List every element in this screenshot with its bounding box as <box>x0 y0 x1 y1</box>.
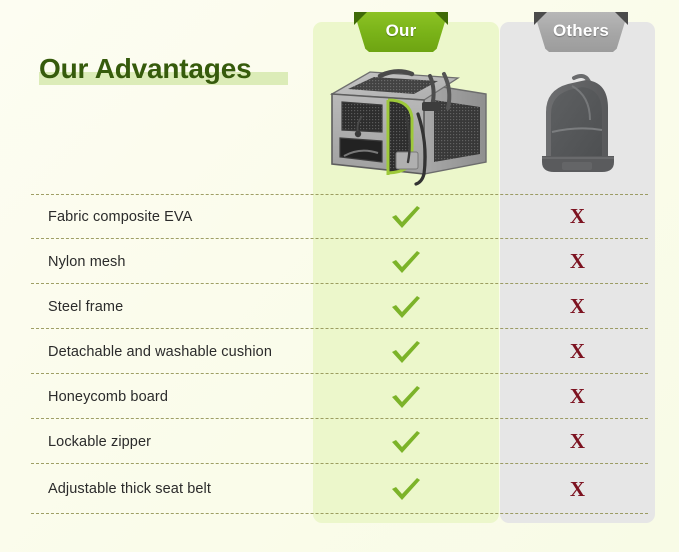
others-cell: X <box>500 329 655 374</box>
feature-label: Steel frame <box>48 299 123 315</box>
our-cell <box>313 464 499 514</box>
check-icon <box>389 384 423 410</box>
x-icon: X <box>570 431 585 452</box>
table-row: Lockable zipper X <box>0 419 679 464</box>
table-row: Detachable and washable cushion X <box>0 329 679 374</box>
feature-label: Detachable and washable cushion <box>48 344 272 360</box>
feature-label: Nylon mesh <box>48 254 126 270</box>
check-icon <box>389 294 423 320</box>
our-cell <box>313 329 499 374</box>
check-icon <box>389 249 423 275</box>
our-cell <box>313 284 499 329</box>
others-cell: X <box>500 194 655 239</box>
feature-label: Fabric composite EVA <box>48 209 192 225</box>
table-row: Steel frame X <box>0 284 679 329</box>
x-icon: X <box>570 251 585 272</box>
check-icon <box>389 339 423 365</box>
feature-label: Honeycomb board <box>48 389 168 405</box>
our-cell <box>313 194 499 239</box>
comparison-chart: Our Advantages Our Others <box>0 0 679 552</box>
x-icon: X <box>570 296 585 317</box>
x-icon: X <box>570 386 585 407</box>
feature-rows: Fabric composite EVA X Nylon mesh X <box>0 0 679 552</box>
row-separator <box>31 513 648 514</box>
x-icon: X <box>570 341 585 362</box>
others-cell: X <box>500 284 655 329</box>
x-icon: X <box>570 479 585 500</box>
our-cell <box>313 374 499 419</box>
others-cell: X <box>500 374 655 419</box>
check-icon <box>389 204 423 230</box>
our-cell <box>313 419 499 464</box>
table-row: Nylon mesh X <box>0 239 679 284</box>
x-icon: X <box>570 206 585 227</box>
feature-label: Adjustable thick seat belt <box>48 481 211 497</box>
others-cell: X <box>500 464 655 514</box>
check-icon <box>389 429 423 455</box>
others-cell: X <box>500 239 655 284</box>
our-cell <box>313 239 499 284</box>
table-row: Honeycomb board X <box>0 374 679 419</box>
check-icon <box>389 476 423 502</box>
table-row: Adjustable thick seat belt X <box>0 464 679 514</box>
table-row: Fabric composite EVA X <box>0 194 679 239</box>
others-cell: X <box>500 419 655 464</box>
feature-label: Lockable zipper <box>48 434 151 450</box>
